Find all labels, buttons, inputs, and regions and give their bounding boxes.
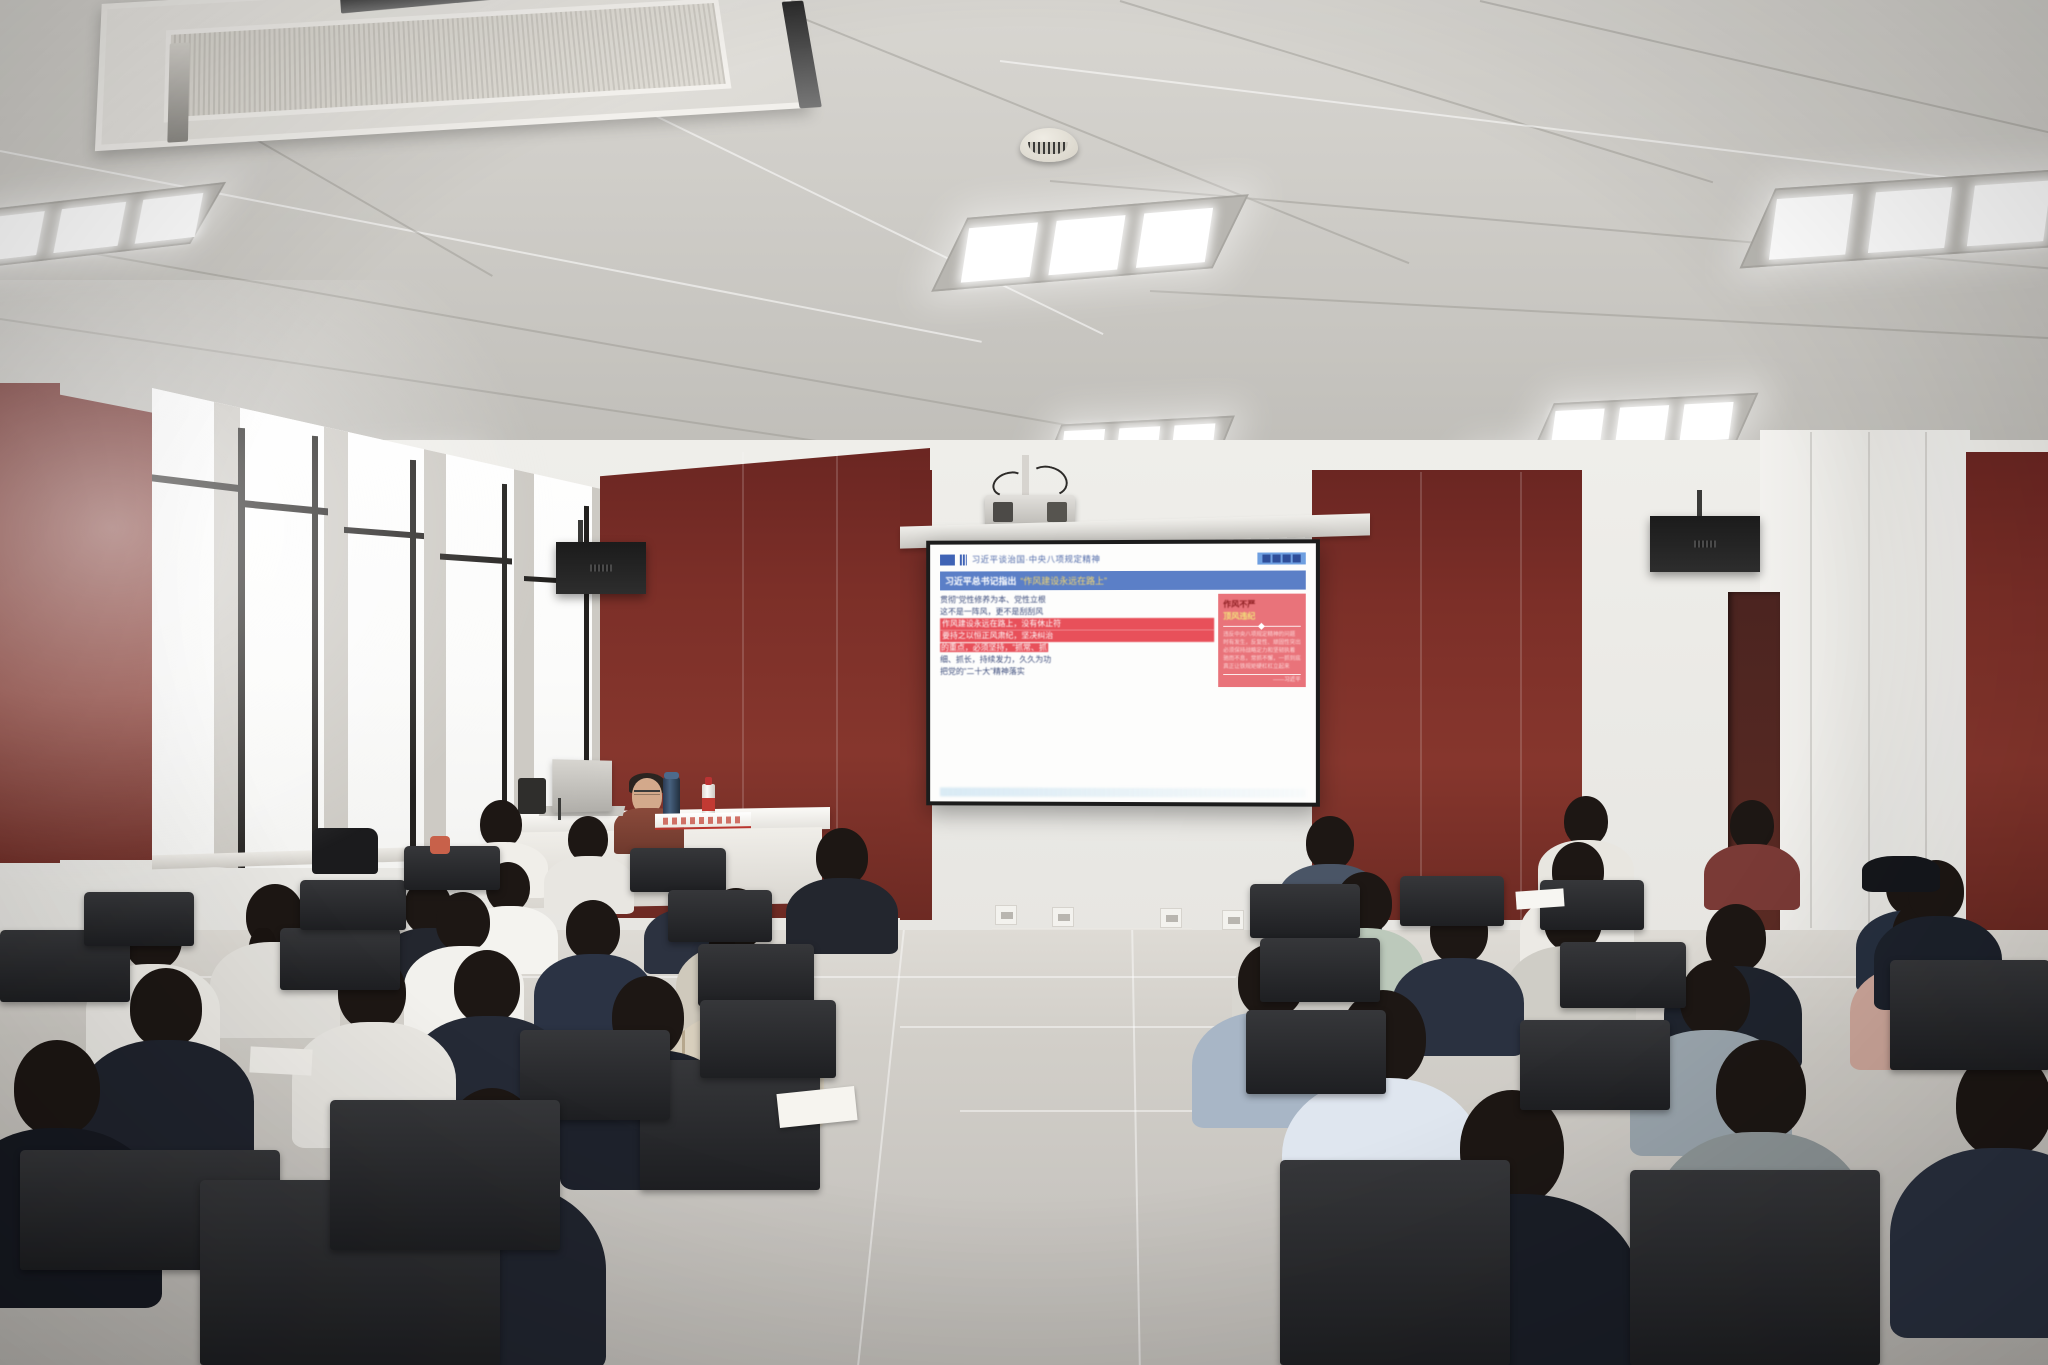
right-speaker-pole	[1697, 490, 1702, 518]
right-wall-speaker	[1650, 516, 1760, 572]
slide-red-panel: 作风不严 顶风违纪 违反中央八项规定精神的问题 时有发生，反复性、顽固性突出 必…	[1218, 594, 1306, 687]
slide-title-main: 习近平总书记指出	[945, 574, 1016, 587]
red-panel-line: 违反中央八项规定精神的问题	[1223, 631, 1301, 639]
red-panel-heading-1: 作风不严	[1223, 599, 1301, 610]
side-equipment	[518, 778, 546, 814]
mic-stand	[558, 798, 561, 820]
chair[interactable]	[698, 944, 814, 1006]
red-panel-line: 驰而不息，常抓不懈，一抓到底	[1223, 655, 1301, 663]
slide-line: 贯彻“党性修养为本、党性立根	[940, 594, 1214, 607]
red-panel-signature: ——习近平	[1223, 675, 1301, 683]
wall-outlet[interactable]	[1222, 910, 1244, 930]
slide-footer-decoration	[940, 787, 1306, 797]
projection-screen: 习近平谈治国·中央八项规定精神 习近平总书记指出 “作风建设永远在路上” 贯彻“…	[926, 539, 1320, 806]
badge-block-icon	[1273, 554, 1281, 562]
ac-grille	[164, 0, 732, 123]
slide: 习近平谈治国·中央八项规定精神 习近平总书记指出 “作风建设永远在路上” 贯彻“…	[930, 543, 1316, 802]
chair[interactable]	[1246, 1010, 1386, 1094]
screen-surface: 习近平谈治国·中央八项规定精神 习近平总书记指出 “作风建设永远在路上” 贯彻“…	[930, 543, 1316, 802]
wall-outlet[interactable]	[995, 905, 1017, 925]
slide-header-stripes-icon	[960, 554, 967, 565]
ceiling-light	[0, 182, 226, 272]
slide-header: 习近平谈治国·中央八项规定精神	[940, 552, 1306, 565]
slide-title-bar: 习近平总书记指出 “作风建设永远在路上”	[940, 570, 1306, 590]
slide-line: 这不是一阵风，更不是刮刮风	[940, 606, 1214, 618]
slide-body: 贯彻“党性修养为本、党性立根 这不是一阵风，更不是刮刮风 作风建设永远在路上，没…	[940, 594, 1306, 687]
left-wall-speaker	[556, 542, 646, 594]
slide-line: 的重点，必须坚持，“抓常、抓	[940, 642, 1214, 654]
badge-block-icon	[1262, 555, 1270, 563]
chair[interactable]	[84, 892, 194, 946]
bag-on-sill	[430, 836, 450, 854]
badge-block-icon	[1283, 554, 1291, 562]
chair[interactable]	[700, 1000, 836, 1078]
projector-lens-icon	[993, 502, 1013, 522]
chair[interactable]	[630, 848, 726, 892]
notebook[interactable]	[249, 1046, 312, 1075]
presenter-glasses-icon	[634, 790, 660, 795]
red-panel-line: 真正让铁规矩硬杠杠立起来	[1223, 663, 1301, 671]
red-panel-line: 必须保持战略定力和坚韧执着	[1223, 647, 1301, 655]
slide-line-lead-highlight: 的重点，必须坚持，“抓常、抓	[940, 643, 1048, 652]
smoke-detector-icon	[1020, 128, 1078, 162]
slide-header-badge	[1257, 552, 1305, 564]
projector-vent-icon	[1047, 502, 1067, 522]
chair[interactable]	[280, 928, 400, 990]
conference-room-photo: 习近平谈治国·中央八项规定精神 习近平总书记指出 “作风建设永远在路上” 贯彻“…	[0, 0, 2048, 1365]
chair[interactable]	[330, 1100, 560, 1250]
slide-line-highlighted: 作风建设永远在路上，没有休止符	[940, 618, 1214, 630]
chair[interactable]	[300, 880, 406, 930]
chair[interactable]	[404, 846, 500, 890]
slide-line: 细、抓长，持续发力，久久为功	[940, 654, 1214, 666]
badge-block-icon	[1293, 554, 1301, 562]
wall-outlet[interactable]	[1160, 908, 1182, 928]
chair[interactable]	[1250, 884, 1360, 938]
chair[interactable]	[1630, 1170, 1880, 1365]
slide-line: 把党的“二十大”精神落实	[940, 666, 1214, 678]
slide-line-highlighted: 要持之以恒正风肃纪，坚决纠治	[940, 630, 1214, 642]
slide-line-text: 这不是一阵风，更不是刮刮风	[940, 607, 1043, 616]
paper[interactable]	[1515, 888, 1564, 909]
red-panel-heading-2: 顶风违纪	[1223, 611, 1301, 622]
red-panel-line: 时有发生，反复性、顽固性突出	[1223, 639, 1301, 647]
ac-vent-left	[167, 42, 189, 142]
ceiling	[0, 0, 2048, 470]
slide-header-accent-icon	[940, 554, 955, 565]
ac-vent-right	[782, 1, 822, 109]
chair[interactable]	[668, 890, 772, 942]
right-far-red-wall	[1966, 452, 2048, 930]
chair[interactable]	[1260, 938, 1380, 1002]
ceiling-light	[931, 194, 1249, 292]
chair[interactable]	[1400, 876, 1504, 926]
chair[interactable]	[1890, 960, 2048, 1070]
chair[interactable]	[1560, 942, 1686, 1008]
bag-on-sill	[312, 828, 378, 874]
wall-outlet[interactable]	[1052, 907, 1074, 927]
chair[interactable]	[1520, 1020, 1670, 1110]
chair[interactable]	[1280, 1160, 1510, 1365]
slide-text-column: 贯彻“党性修养为本、党性立根 这不是一阵风，更不是刮刮风 作风建设永远在路上，没…	[940, 594, 1214, 687]
ceiling-ac-unit	[95, 0, 810, 151]
slide-header-title: 习近平谈治国·中央八项规定精神	[972, 553, 1101, 565]
audience-person-cap	[1862, 856, 1940, 892]
right-white-wall	[1760, 430, 1970, 930]
slide-title-quote: “作风建设永远在路上”	[1020, 574, 1107, 587]
left-speaker-pole	[578, 520, 583, 544]
laptop[interactable]	[552, 759, 612, 813]
ceiling-light	[1740, 168, 2048, 269]
red-panel-divider	[1223, 626, 1301, 627]
nameplate	[655, 812, 751, 830]
